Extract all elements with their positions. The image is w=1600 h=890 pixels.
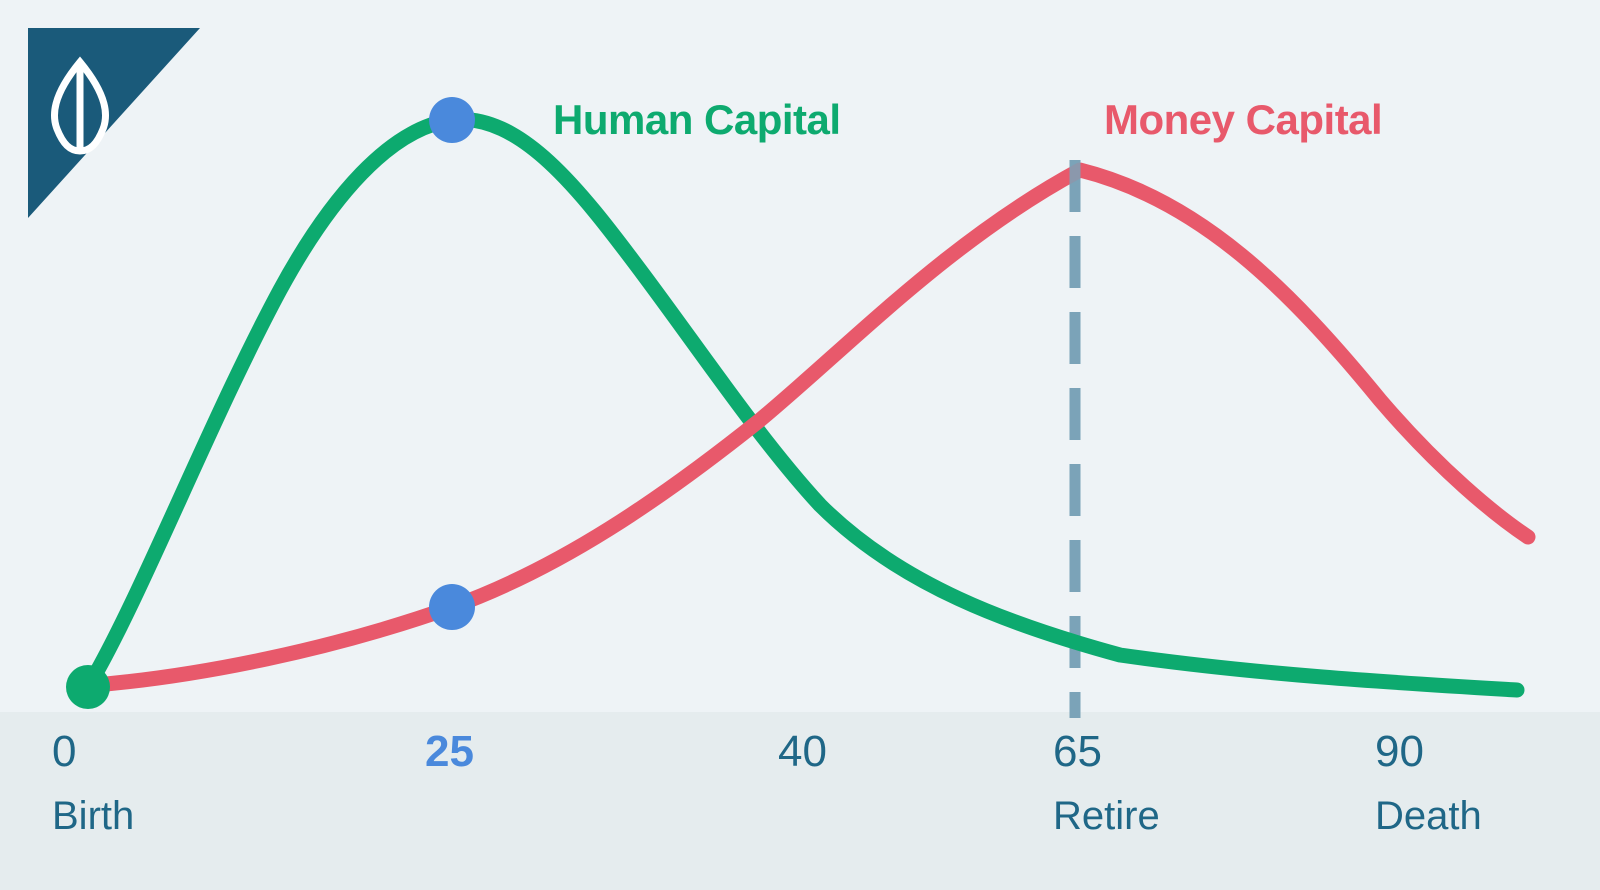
x-tick-25: 25: [425, 726, 474, 778]
x-tick-65: 65Retire: [1053, 726, 1160, 844]
x-tick-value-90: 90: [1375, 726, 1482, 778]
lifecycle-capital-chart: Human Capital Money Capital 0Birth254065…: [0, 0, 1600, 890]
x-tick-value-65: 65: [1053, 726, 1160, 778]
x-tick-value-40: 40: [778, 726, 827, 778]
x-tick-value-0: 0: [52, 726, 134, 778]
origin-marker: [66, 665, 110, 709]
money-age25-marker: [429, 584, 475, 630]
x-tick-90: 90Death: [1375, 726, 1482, 844]
legend-human-capital: Human Capital: [553, 96, 841, 144]
legend-money-capital: Money Capital: [1104, 96, 1382, 144]
x-tick-value-25: 25: [425, 726, 474, 778]
human-peak-marker: [429, 97, 475, 143]
x-tick-sublabel-0: Birth: [52, 788, 134, 844]
x-tick-sublabel-65: Retire: [1053, 788, 1160, 844]
human-capital-curve: [88, 119, 1517, 690]
x-tick-0: 0Birth: [52, 726, 134, 844]
x-tick-sublabel-90: Death: [1375, 788, 1482, 844]
x-tick-40: 40: [778, 726, 827, 778]
